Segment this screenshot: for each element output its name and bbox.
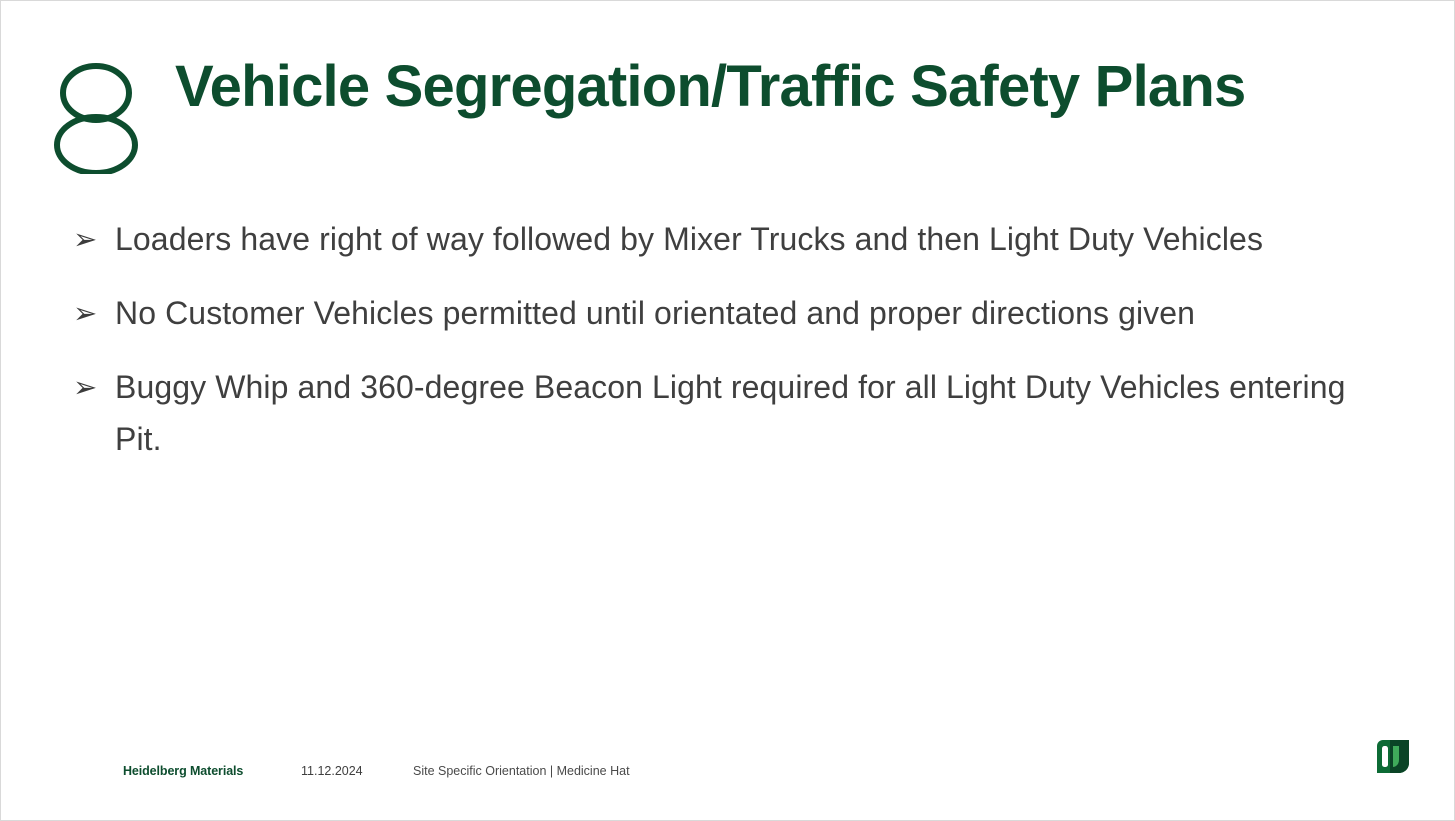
list-item-text: No Customer Vehicles permitted until ori… [115, 287, 1390, 339]
list-item: ➢ No Customer Vehicles permitted until o… [71, 287, 1394, 339]
list-item: ➢ Loaders have right of way followed by … [71, 213, 1394, 265]
arrowhead-bullet-icon: ➢ [71, 287, 115, 339]
footer-date: 11.12.2024 [301, 764, 413, 778]
slide-footer: Heidelberg Materials 11.12.2024 Site Spe… [123, 764, 630, 778]
footer-subject: Site Specific Orientation | Medicine Hat [413, 764, 630, 778]
slide: Vehicle Segregation/Traffic Safety Plans… [0, 0, 1455, 821]
arrowhead-bullet-icon: ➢ [71, 361, 115, 413]
arrowhead-bullet-icon: ➢ [71, 213, 115, 265]
list-item: ➢ Buggy Whip and 360-degree Beacon Light… [71, 361, 1394, 465]
bullet-list: ➢ Loaders have right of way followed by … [71, 213, 1394, 487]
list-item-text: Loaders have right of way followed by Mi… [115, 213, 1390, 265]
footer-brand: Heidelberg Materials [123, 764, 301, 778]
slide-title-row: Vehicle Segregation/Traffic Safety Plans [53, 53, 1394, 174]
page-title: Vehicle Segregation/Traffic Safety Plans [175, 53, 1245, 120]
list-item-text: Buggy Whip and 360-degree Beacon Light r… [115, 361, 1390, 465]
heidelberg-materials-leaf-logo [1372, 736, 1414, 778]
slide-number-eight-icon [53, 59, 143, 174]
